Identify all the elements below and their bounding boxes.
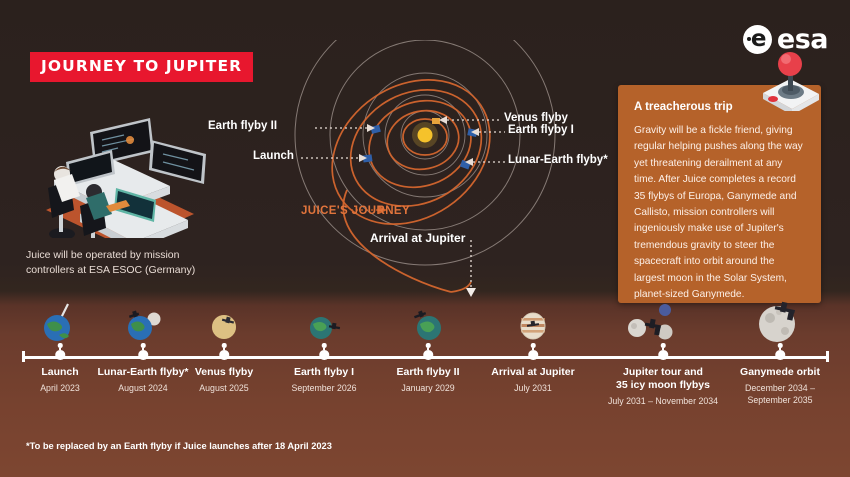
orbit-label-venus-flyby: Venus flyby — [504, 112, 568, 124]
timeline-date: January 2029 — [378, 383, 478, 395]
esa-logo-e: e — [751, 28, 767, 51]
timeline-date: August 2025 — [178, 383, 270, 395]
mission-timeline: Launch April 2023 Lunar-Earth flyby* — [0, 300, 850, 440]
earth-icon — [378, 300, 478, 344]
infographic-canvas: JOURNEY TO JUPITER e esa — [0, 0, 850, 477]
timeline-label: Arrival at Jupiter — [478, 366, 588, 379]
timeline-item[interactable]: Earth flyby I September 2026 — [270, 300, 378, 395]
orbit-label-earth-flyby-2: Earth flyby II — [208, 120, 277, 132]
jupiter-icon — [478, 300, 588, 344]
timeline-date: December 2034 – September 2035 — [716, 383, 844, 406]
joystick-icon — [755, 49, 825, 111]
page-title-text: JOURNEY TO JUPITER — [41, 57, 242, 75]
treacherous-trip-panel: A treacherous trip Gravity will be a fic… — [618, 85, 821, 303]
timeline-node — [219, 350, 229, 360]
timeline-item[interactable]: Earth flyby II January 2029 — [378, 300, 478, 395]
timeline-date: July 2031 — [478, 383, 588, 395]
timeline-date: September 2026 — [270, 383, 378, 395]
page-title: JOURNEY TO JUPITER — [30, 52, 253, 82]
orbit-diagram: Earth flyby II Launch Venus flyby Earth … — [255, 40, 615, 315]
timeline-label: Earth flyby II — [378, 366, 478, 379]
orbit-label-earth-flyby-1: Earth flyby I — [508, 124, 574, 136]
ganymede-icon — [716, 300, 844, 344]
footnote: *To be replaced by an Earth flyby if Jui… — [26, 441, 332, 451]
timeline-item[interactable]: Arrival at Jupiter July 2031 — [478, 300, 588, 395]
panel-body: Gravity will be a fickle friend, giving … — [618, 113, 821, 303]
timeline-node — [423, 350, 433, 360]
timeline-node — [775, 350, 785, 360]
arrival-at-jupiter-label: Arrival at Jupiter — [370, 231, 465, 245]
timeline-node — [319, 350, 329, 360]
timeline-node — [55, 350, 65, 360]
orbit-label-lunar-earth-flyby: Lunar-Earth flyby* — [508, 154, 608, 166]
mission-control-caption: Juice will be operated by mission contro… — [26, 248, 216, 278]
timeline-node — [658, 350, 668, 360]
timeline-label: Ganymede orbit — [716, 366, 844, 379]
orbit-label-launch: Launch — [253, 150, 294, 162]
timeline-label: Earth flyby I — [270, 366, 378, 379]
venus-icon — [178, 300, 270, 344]
timeline-item[interactable]: Venus flyby August 2025 — [178, 300, 270, 395]
timeline-label: Venus flyby — [178, 366, 270, 379]
timeline-node — [528, 350, 538, 360]
earth-icon — [270, 300, 378, 344]
timeline-item[interactable]: Ganymede orbit December 2034 – September… — [716, 300, 844, 406]
juice-journey-label: JUICE'S JOURNEY — [301, 204, 410, 219]
mission-control-room-icon — [18, 118, 218, 238]
timeline-node — [138, 350, 148, 360]
